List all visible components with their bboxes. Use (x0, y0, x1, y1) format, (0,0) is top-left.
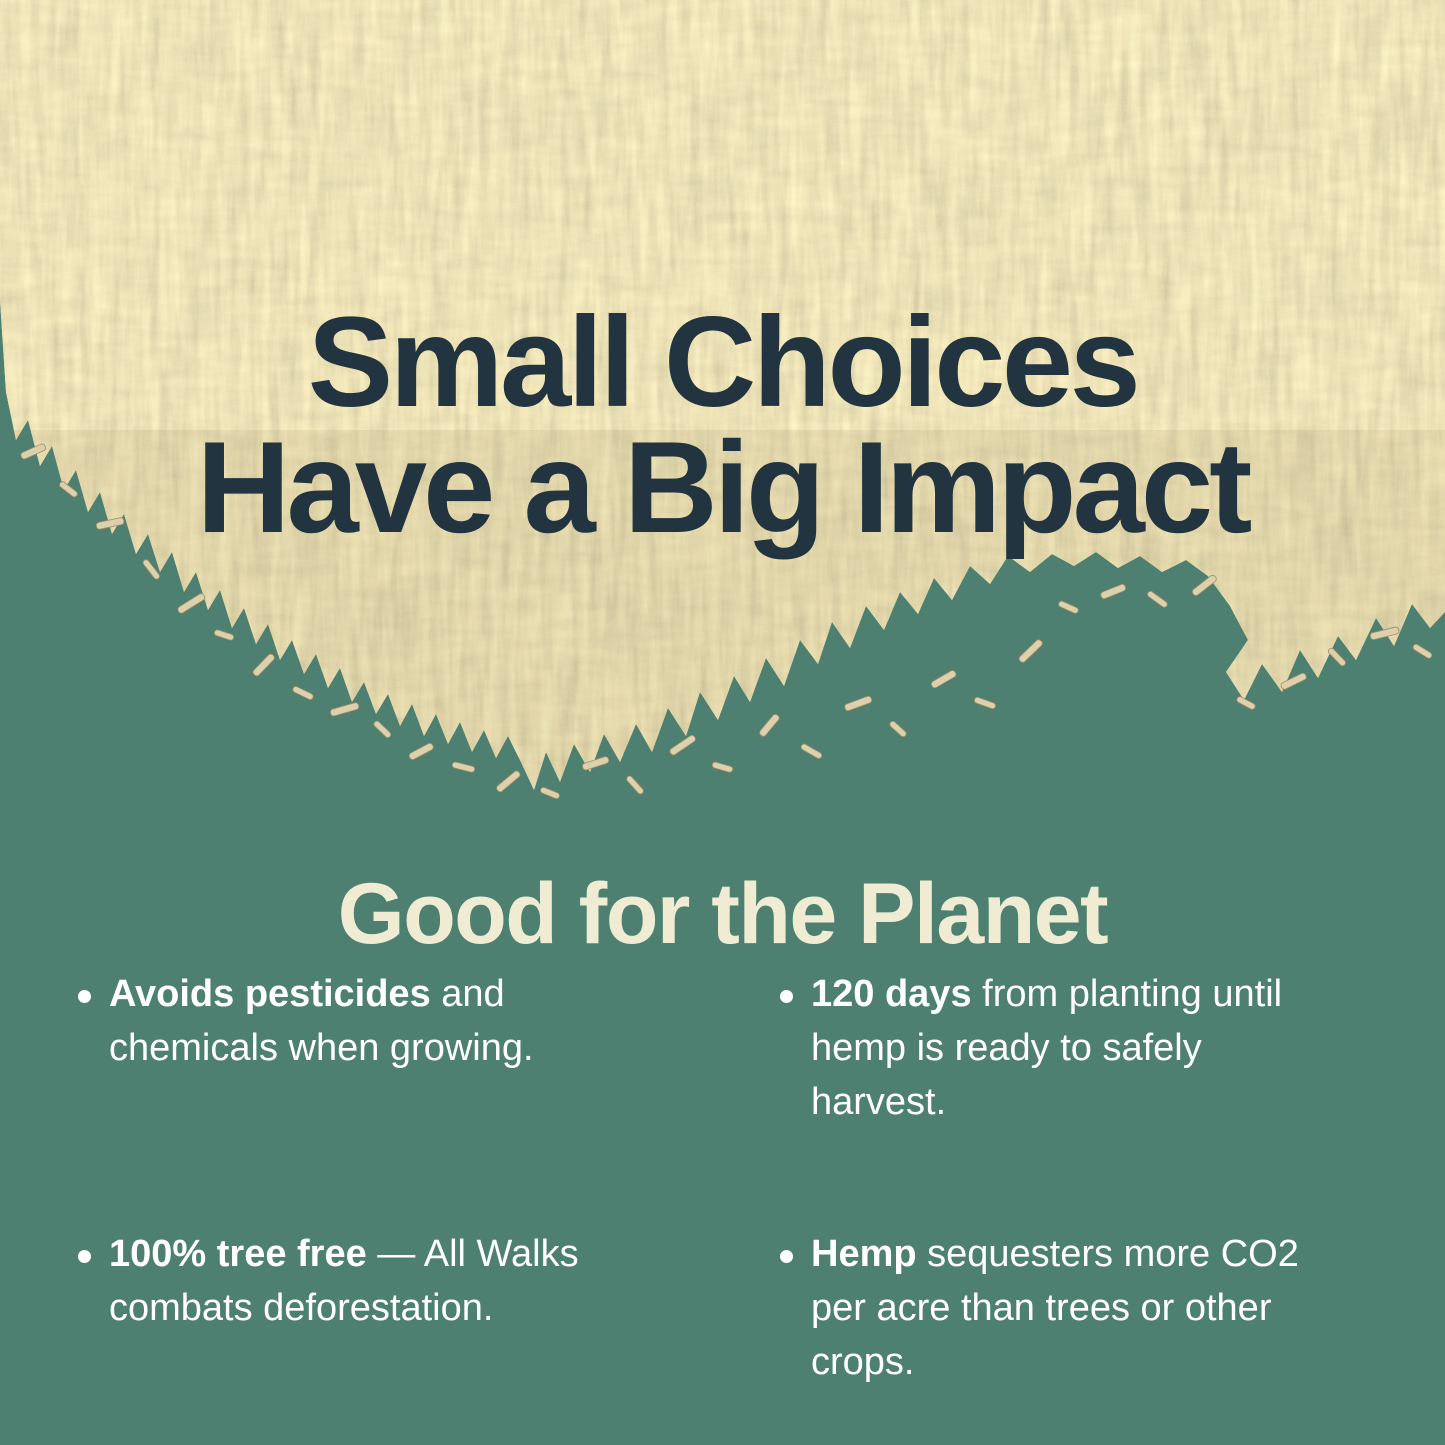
bullet-hemp-sequesters: Hemp sequesters more CO2 per acre than t… (780, 1228, 1340, 1390)
bullet-text: Hemp sequesters more CO2 per acre than t… (811, 1228, 1340, 1390)
bullet-dot-icon (780, 1250, 793, 1263)
headline-line-2: Have a Big Impact (0, 425, 1445, 550)
headline: Small Choices Have a Big Impact (0, 302, 1445, 550)
headline-line-1: Small Choices (0, 302, 1445, 425)
bullet-dot-icon (78, 990, 91, 1003)
bullet-lead: Avoids pesticides (109, 973, 431, 1015)
bullet-lead: 100% tree free (109, 1233, 367, 1275)
bullet-text: 120 days from planting until hemp is rea… (811, 968, 1340, 1130)
bullet-dot-icon (78, 1250, 91, 1263)
subheading: Good for the Planet (0, 871, 1445, 957)
bullet-lead: Hemp (811, 1233, 917, 1275)
bullet-text: 100% tree free — All Walks combats defor… (109, 1228, 638, 1336)
bullet-lead: 120 days (811, 973, 972, 1015)
benefits-list: Avoids pesticides and chemicals when gro… (78, 968, 1378, 1390)
bullet-tree-free: 100% tree free — All Walks combats defor… (78, 1228, 638, 1390)
bullet-120-days: 120 days from planting until hemp is rea… (780, 968, 1340, 1130)
bullet-dot-icon (780, 990, 793, 1003)
bullet-avoids-pesticides: Avoids pesticides and chemicals when gro… (78, 968, 638, 1130)
poster-canvas: Small Choices Have a Big Impact Good for… (0, 0, 1445, 1445)
bullet-text: Avoids pesticides and chemicals when gro… (109, 968, 638, 1076)
